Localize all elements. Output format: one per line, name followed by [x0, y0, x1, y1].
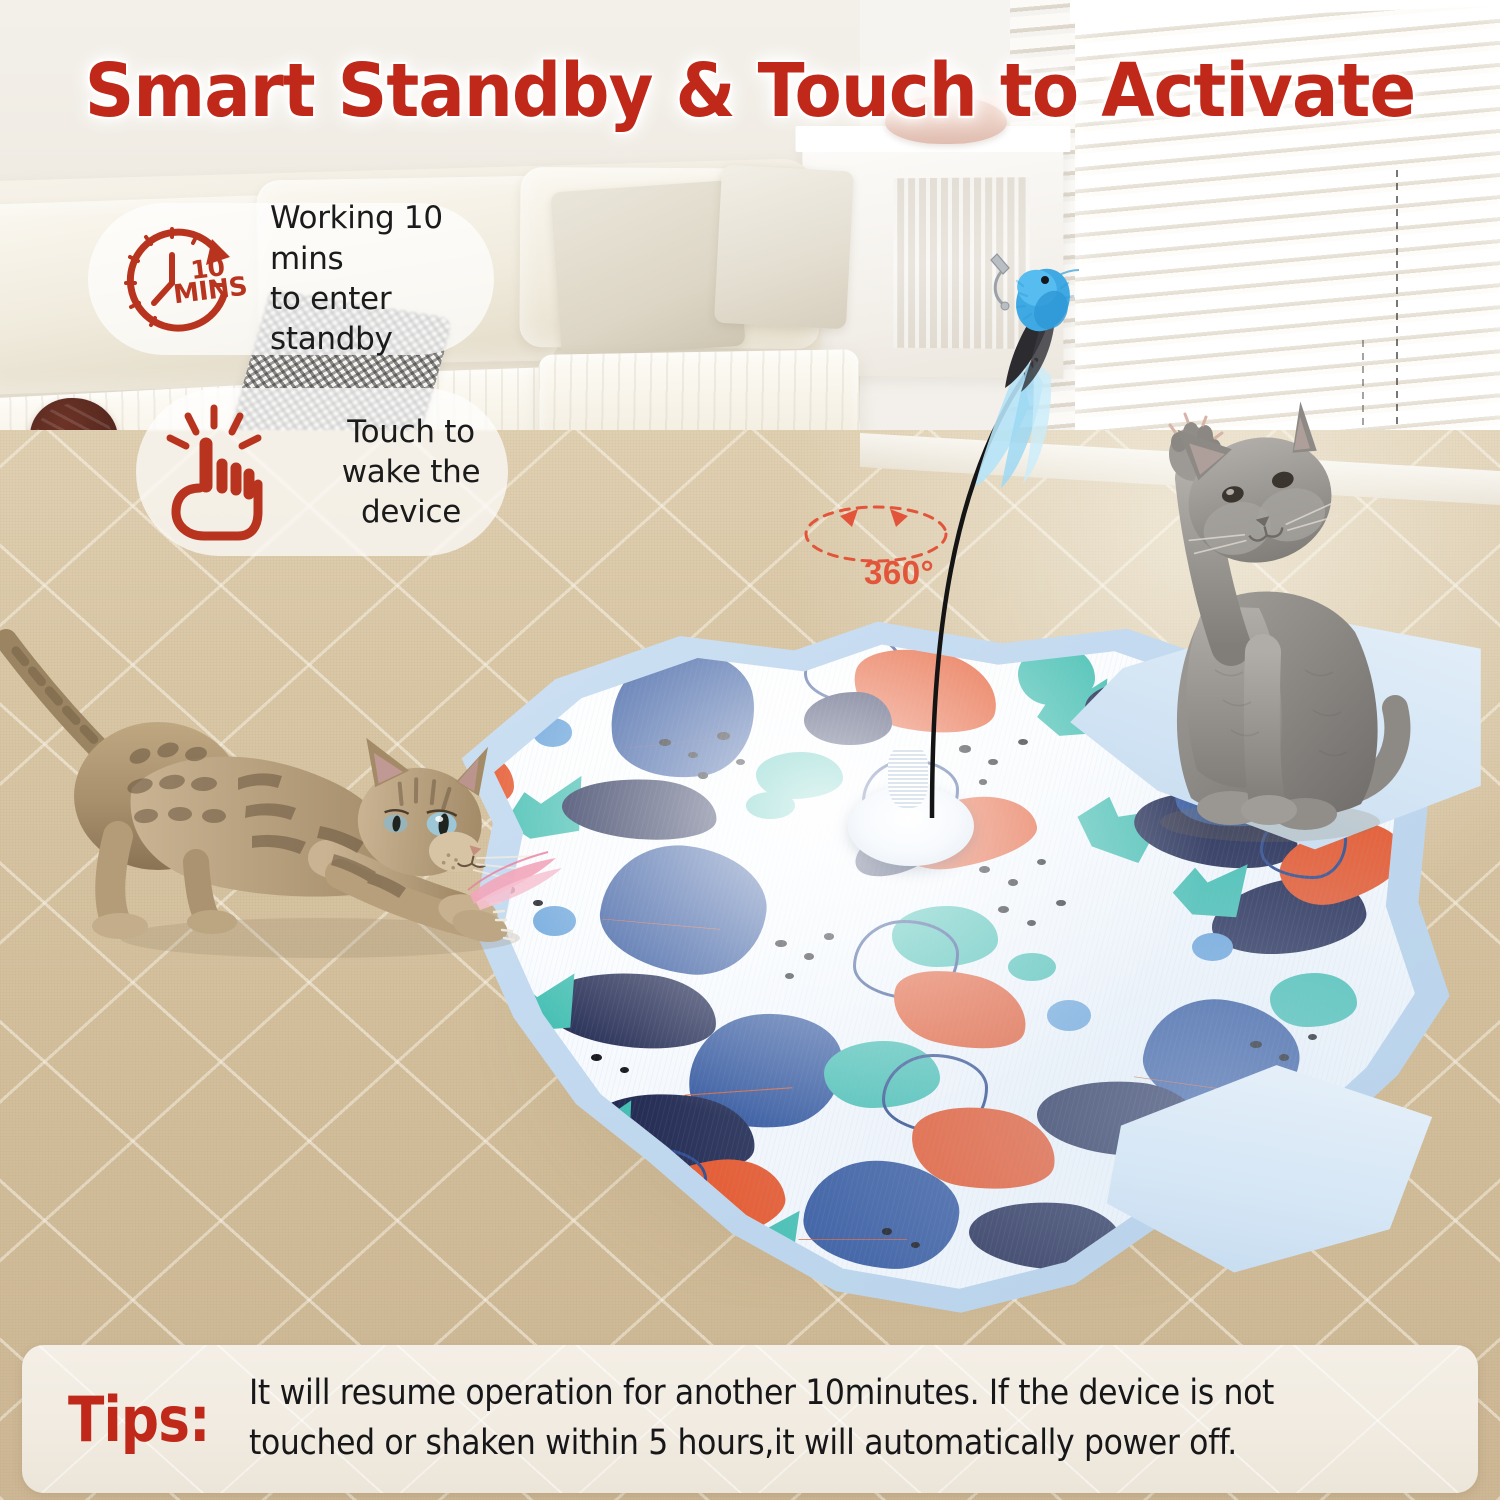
print-dot [1008, 953, 1056, 981]
tips-text: It will resume operation for another 10m… [249, 1369, 1274, 1468]
tabby-kitten [0, 600, 590, 980]
tap-hand-icon [158, 402, 288, 542]
tips-label: Tips: [68, 1383, 210, 1456]
wand-mount-collar[interactable] [888, 748, 929, 808]
pink-feather-accent [460, 832, 580, 922]
tips-panel: Tips: It will resume operation for anoth… [22, 1345, 1478, 1493]
badge-duration-label: 10 MINS [169, 253, 248, 309]
feature-badge-standby: 10 MINS Working 10 mins to enter standby [88, 203, 494, 355]
print-dot [1047, 1000, 1092, 1031]
bird-crest [1057, 270, 1079, 276]
gray-kitten [1055, 370, 1425, 850]
toy-clip [991, 254, 1009, 310]
page-title: Smart Standby & Touch to Activate [53, 48, 1448, 134]
product-infographic: 360° [0, 0, 1500, 1500]
clock-arrow-icon: 10 MINS [106, 209, 256, 349]
rotation-arrows-icon [780, 492, 1000, 602]
feature-badge-standby-label: Working 10 mins to enter standby [270, 198, 494, 359]
print-dot [746, 792, 794, 819]
print-blob [1270, 973, 1357, 1027]
print-dot [1192, 933, 1233, 961]
bird-eye [1041, 276, 1049, 284]
print-blob [804, 692, 891, 746]
feature-badge-touch-label: Touch to wake the device [314, 412, 508, 533]
feature-badge-touch: Touch to wake the device [136, 388, 508, 556]
throw-pillow [714, 165, 854, 330]
